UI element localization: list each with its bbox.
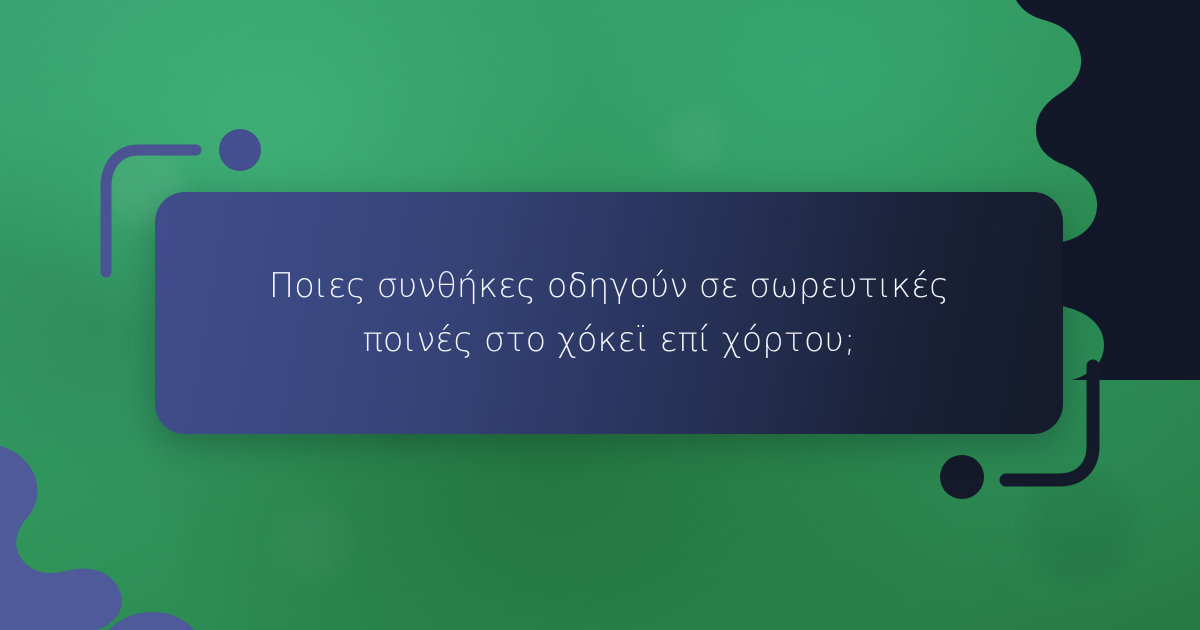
social-card-canvas: Ποιες συνθήκες οδηγούν σε σωρευτικές ποι… <box>0 0 1200 630</box>
accent-dot-top-left <box>219 129 261 171</box>
blob-bottom-left-shape-2 <box>108 612 194 630</box>
question-card: Ποιες συνθήκες οδηγούν σε σωρευτικές ποι… <box>155 192 1063 434</box>
accent-dot-bottom-right <box>940 455 984 499</box>
blob-bottom-left-shape <box>0 446 122 630</box>
question-text: Ποιες συνθήκες οδηγούν σε σωρευτικές ποι… <box>259 259 959 368</box>
